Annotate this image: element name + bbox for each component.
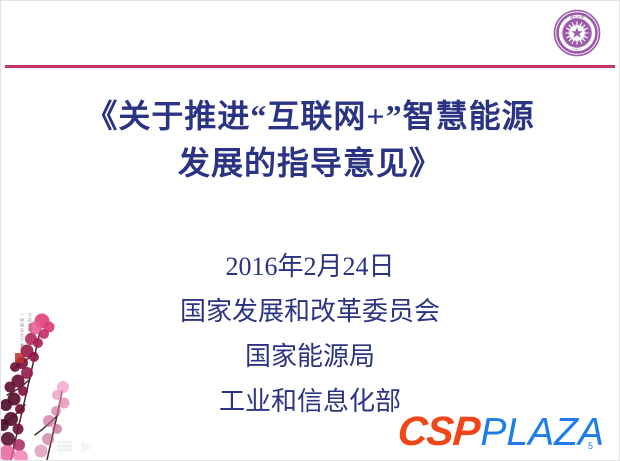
title-line-2: 发展的指导意见》 <box>1 140 619 187</box>
slide-title: 《关于推进“互联网+”智慧能源 发展的指导意见》 <box>1 93 619 187</box>
svg-text:“1911”: “1911” <box>572 47 582 52</box>
title-line-1: 《关于推进“互联网+”智慧能源 <box>1 93 619 140</box>
watermark-csp-text: CSP <box>397 411 481 452</box>
watermark-superscript: 5 <box>588 442 593 451</box>
lines-icon <box>57 441 72 453</box>
issuer-ndrc: 国家发展和改革委员会 <box>1 289 619 334</box>
cspplaza-watermark: CSP PLAZA 5 <box>398 411 609 452</box>
presentation-slide: 清华大学 “1911” 《关于推进“互联网+”智慧能源 发展的指导意见》 201… <box>0 0 620 461</box>
issuer-nea: 国家能源局 <box>1 334 619 379</box>
slide-body: 2016年2月24日 国家发展和改革委员会 国家能源局 工业和信息化部 <box>1 244 619 424</box>
university-seal-logo: 清华大学 “1911” <box>553 9 601 57</box>
arrow-right-icon <box>81 440 93 454</box>
publish-date: 2016年2月24日 <box>1 244 619 289</box>
background-ghost-icons <box>57 440 93 454</box>
svg-text:清华大学: 清华大学 <box>570 14 585 19</box>
watermark-plaza-text: PLAZA <box>480 413 604 452</box>
header-divider-rule <box>5 65 615 68</box>
